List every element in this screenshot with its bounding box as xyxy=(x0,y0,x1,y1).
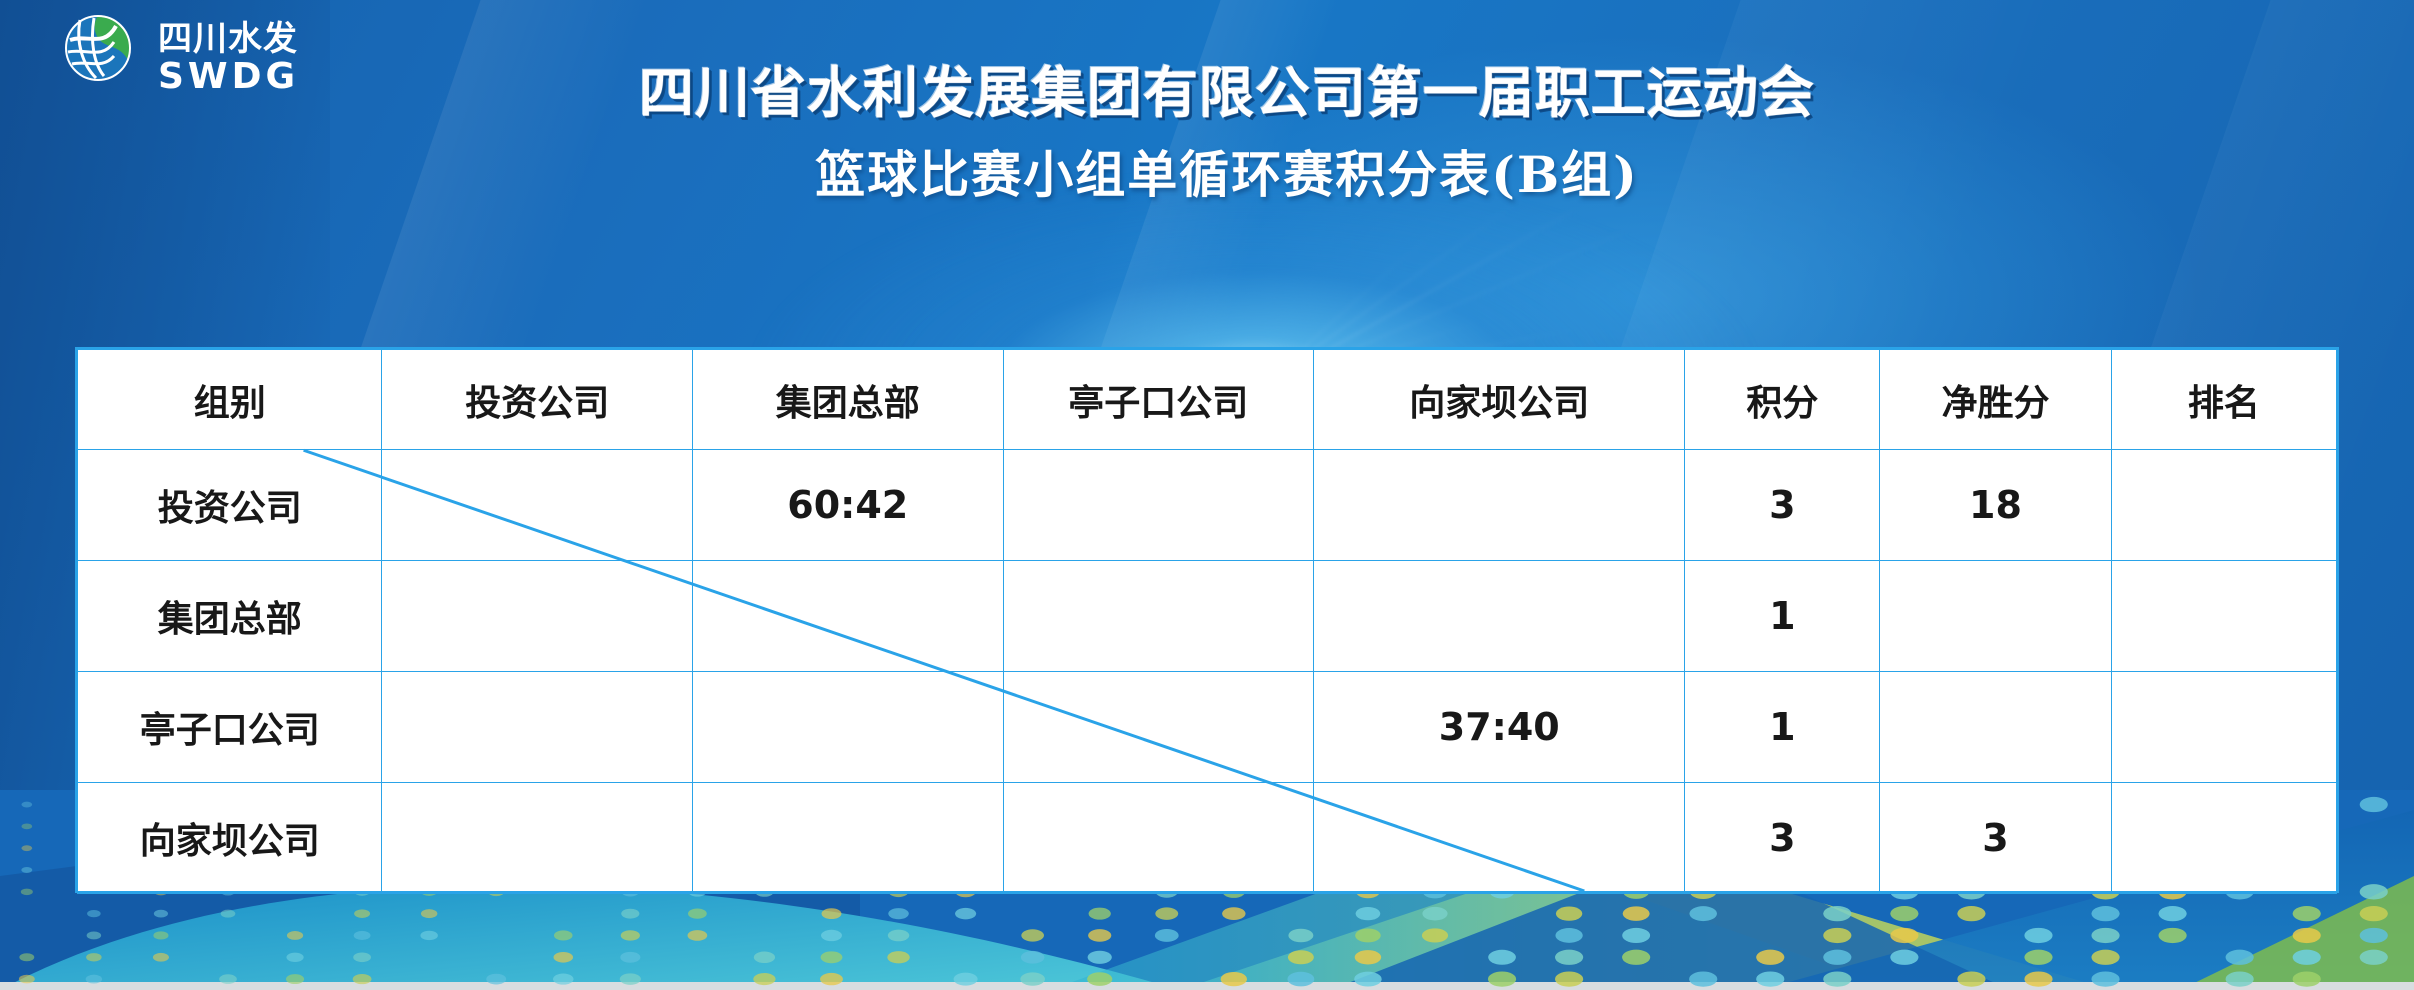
column-header-point-diff: 净胜分 xyxy=(1880,350,2111,450)
standings-table: 组别 投资公司 集团总部 亭子口公司 向家坝公司 积分 净胜分 排名 投资公司 … xyxy=(77,349,2337,894)
row-rank xyxy=(2111,672,2336,783)
match-cell xyxy=(1003,783,1314,894)
column-header-rank: 排名 xyxy=(2111,350,2336,450)
match-cell xyxy=(1314,783,1685,894)
match-cell xyxy=(382,783,693,894)
row-points: 1 xyxy=(1685,561,1880,672)
page-subtitle: 篮球比赛小组单循环赛积分表(B组) xyxy=(0,135,2414,207)
match-cell xyxy=(692,672,1003,783)
match-cell xyxy=(382,672,693,783)
match-cell xyxy=(1003,672,1314,783)
table-header-row: 组别 投资公司 集团总部 亭子口公司 向家坝公司 积分 净胜分 排名 xyxy=(78,350,2337,450)
column-header-tingzikou: 亭子口公司 xyxy=(1003,350,1314,450)
column-header-xiangjiaba: 向家坝公司 xyxy=(1314,350,1685,450)
match-cell xyxy=(382,450,693,561)
row-points: 3 xyxy=(1685,783,1880,894)
match-cell xyxy=(692,783,1003,894)
table-header: 组别 投资公司 集团总部 亭子口公司 向家坝公司 积分 净胜分 排名 xyxy=(78,350,2337,450)
table-row: 向家坝公司 3 3 xyxy=(78,783,2337,894)
table-body: 投资公司 60:42 3 18 集团总部 1 亭子口公司 xyxy=(78,450,2337,894)
table-row: 集团总部 1 xyxy=(78,561,2337,672)
row-points: 1 xyxy=(1685,672,1880,783)
row-rank xyxy=(2111,561,2336,672)
table-row: 投资公司 60:42 3 18 xyxy=(78,450,2337,561)
match-cell xyxy=(1314,450,1685,561)
match-cell xyxy=(1003,450,1314,561)
match-cell xyxy=(692,561,1003,672)
column-header-headquarters: 集团总部 xyxy=(692,350,1003,450)
row-point-diff xyxy=(1880,561,2111,672)
row-team-name: 向家坝公司 xyxy=(78,783,382,894)
match-cell xyxy=(382,561,693,672)
match-cell: 60:42 xyxy=(692,450,1003,561)
match-cell: 37:40 xyxy=(1314,672,1685,783)
column-header-points: 积分 xyxy=(1685,350,1880,450)
column-header-group: 组别 xyxy=(78,350,382,450)
standings-table-container: 组别 投资公司 集团总部 亭子口公司 向家坝公司 积分 净胜分 排名 投资公司 … xyxy=(75,347,2339,893)
row-point-diff: 18 xyxy=(1880,450,2111,561)
match-cell xyxy=(1003,561,1314,672)
match-cell xyxy=(1314,561,1685,672)
row-point-diff: 3 xyxy=(1880,783,2111,894)
row-points: 3 xyxy=(1685,450,1880,561)
table-row: 亭子口公司 37:40 1 xyxy=(78,672,2337,783)
column-header-investment: 投资公司 xyxy=(382,350,693,450)
row-rank xyxy=(2111,783,2336,894)
row-team-name: 亭子口公司 xyxy=(78,672,382,783)
row-rank xyxy=(2111,450,2336,561)
row-team-name: 投资公司 xyxy=(78,450,382,561)
row-point-diff xyxy=(1880,672,2111,783)
row-team-name: 集团总部 xyxy=(78,561,382,672)
page-title: 四川省水利发展集团有限公司第一届职工运动会 xyxy=(0,48,2414,128)
